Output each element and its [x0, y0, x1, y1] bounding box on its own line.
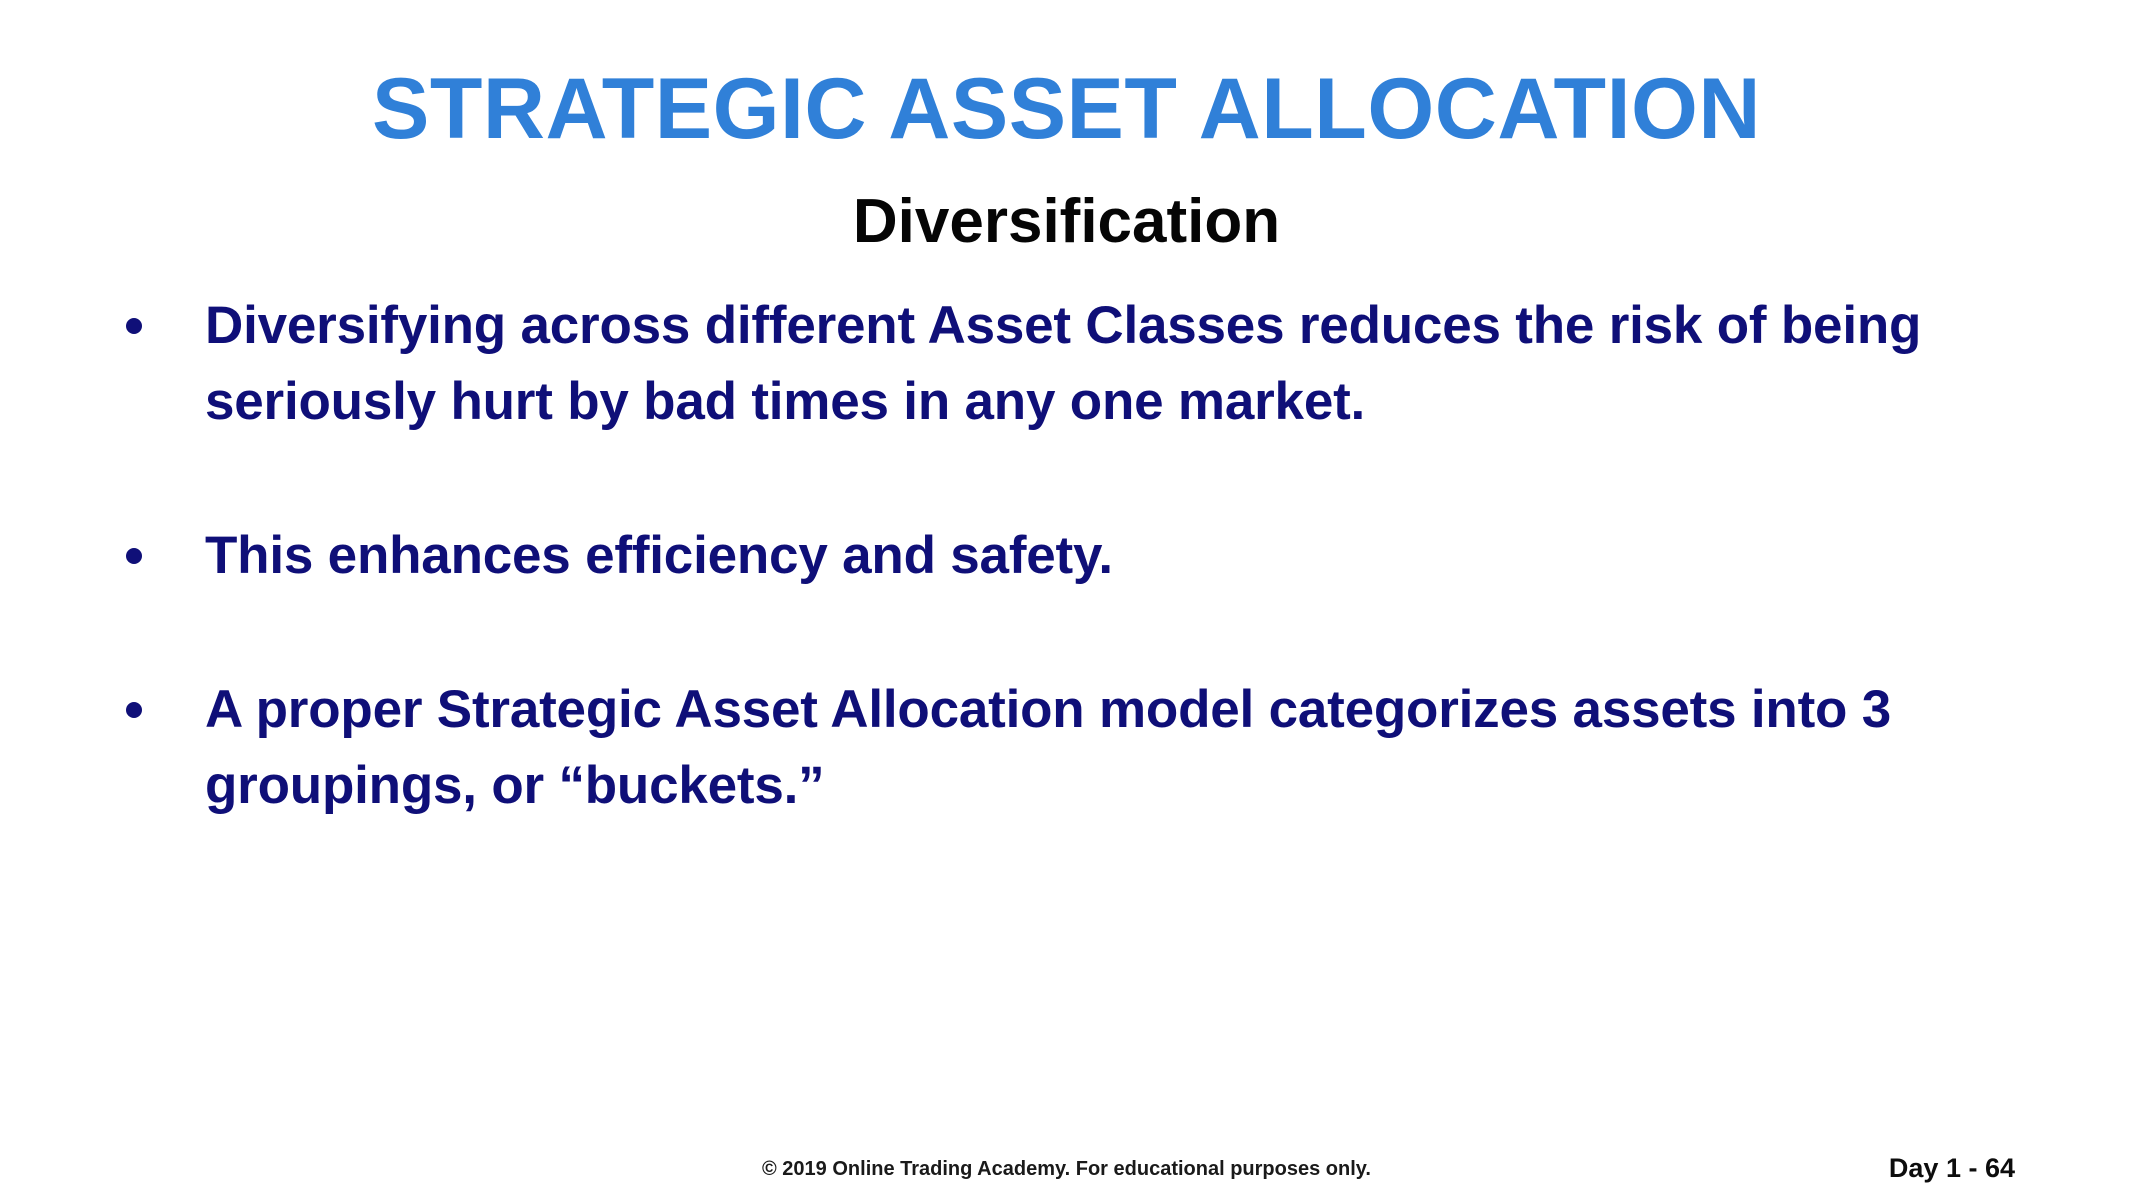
- presentation-slide: STRATEGIC ASSET ALLOCATION Diversificati…: [0, 0, 2133, 1200]
- bullet-dot-icon: [126, 702, 142, 718]
- bullet-dot-icon: [126, 548, 142, 564]
- list-item-label: A proper Strategic Asset Allocation mode…: [205, 672, 2020, 824]
- list-item: A proper Strategic Asset Allocation mode…: [110, 672, 2020, 824]
- list-item-label: Diversifying across different Asset Clas…: [205, 288, 2020, 440]
- list-item: This enhances efficiency and safety.: [110, 518, 2020, 594]
- bullet-dot-icon: [126, 318, 142, 334]
- list-item: Diversifying across different Asset Clas…: [110, 288, 2020, 440]
- bullet-list: Diversifying across different Asset Clas…: [110, 288, 2020, 824]
- page-title: STRATEGIC ASSET ALLOCATION: [0, 66, 2133, 152]
- footer-copyright: © 2019 Online Trading Academy. For educa…: [0, 1159, 2133, 1179]
- slide-subtitle: Diversification: [0, 191, 2133, 253]
- slide-page-number: Day 1 - 64: [1889, 1155, 2015, 1182]
- list-item-label: This enhances efficiency and safety.: [205, 518, 2020, 594]
